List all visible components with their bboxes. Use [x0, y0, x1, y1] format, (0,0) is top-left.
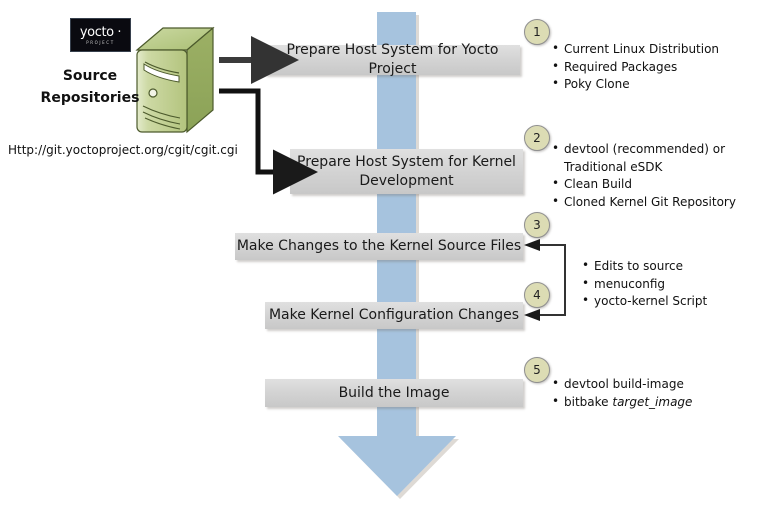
step-box-3[interactable]: Make Changes to the Kernel Source Files: [235, 233, 523, 260]
step-badge-4: 4: [524, 282, 550, 308]
step-box-5-label: Build the Image: [339, 384, 450, 403]
list-item: Clean Build: [552, 176, 736, 194]
step-badge-1: 1: [524, 19, 550, 45]
connector-arrowhead-step3: [524, 239, 540, 251]
list-item: Poky Clone: [552, 76, 719, 94]
step-5-bullets: devtool build-image bitbake target_image: [552, 376, 692, 411]
list-item: Edits to source: [582, 258, 707, 276]
step-2-bullets: devtool (recommended) or Traditional eSD…: [552, 141, 736, 212]
step-box-2[interactable]: Prepare Host System for Kernel Developme…: [290, 149, 523, 194]
step-box-1-label: Prepare Host System for Yocto Project: [265, 41, 520, 79]
bitbake-target-placeholder: target_image: [612, 395, 692, 409]
step-box-3-label: Make Changes to the Kernel Source Files: [237, 237, 521, 256]
connector-arrowhead-step4: [524, 309, 540, 321]
source-repositories-label: Source Repositories: [30, 66, 150, 109]
diagram-canvas: yocto · PROJECT: [0, 0, 769, 517]
list-item: menuconfig: [582, 276, 707, 294]
flow-arrow-head: [338, 436, 456, 496]
list-item: Current Linux Distribution: [552, 41, 719, 59]
source-label-line1: Source: [30, 66, 150, 88]
step-badge-1-number: 1: [533, 25, 541, 39]
yocto-project-logo: yocto · PROJECT: [70, 18, 131, 52]
list-item: yocto-kernel Script: [582, 293, 707, 311]
step-badge-2-number: 2: [533, 131, 541, 145]
step-box-2-label-line1: Prepare Host System for Kernel: [297, 153, 516, 172]
connector-source-to-step2: [219, 91, 278, 172]
step-box-4[interactable]: Make Kernel Configuration Changes: [265, 302, 523, 329]
step-badge-2: 2: [524, 125, 550, 151]
step-box-4-label: Make Kernel Configuration Changes: [269, 306, 519, 325]
logo-wordmark: yocto ·: [80, 26, 121, 39]
bitbake-command-prefix: bitbake: [564, 395, 612, 409]
step-badge-3: 3: [524, 212, 550, 238]
step-badge-5: 5: [524, 357, 550, 383]
step-box-1[interactable]: Prepare Host System for Yocto Project: [265, 45, 520, 75]
list-item: Cloned Kernel Git Repository: [552, 194, 736, 212]
list-item: devtool (recommended) or Traditional eSD…: [552, 141, 734, 176]
source-label-line2: Repositories: [30, 88, 150, 110]
list-item: devtool build-image: [552, 376, 692, 394]
step-badge-4-number: 4: [533, 288, 541, 302]
source-repository-url[interactable]: Http://git.yoctoproject.org/cgit/cgit.cg…: [8, 143, 238, 157]
step-box-2-label-line2: Development: [359, 172, 453, 191]
step-badge-3-number: 3: [533, 218, 541, 232]
step-badge-5-number: 5: [533, 363, 541, 377]
steps-3-4-shared-bullets: Edits to source menuconfig yocto-kernel …: [582, 258, 707, 311]
list-item: Required Packages: [552, 59, 719, 77]
list-item: bitbake target_image: [552, 394, 692, 412]
logo-subtext: PROJECT: [86, 41, 114, 45]
step-box-5[interactable]: Build the Image: [265, 379, 523, 407]
step-1-bullets: Current Linux Distribution Required Pack…: [552, 41, 719, 94]
